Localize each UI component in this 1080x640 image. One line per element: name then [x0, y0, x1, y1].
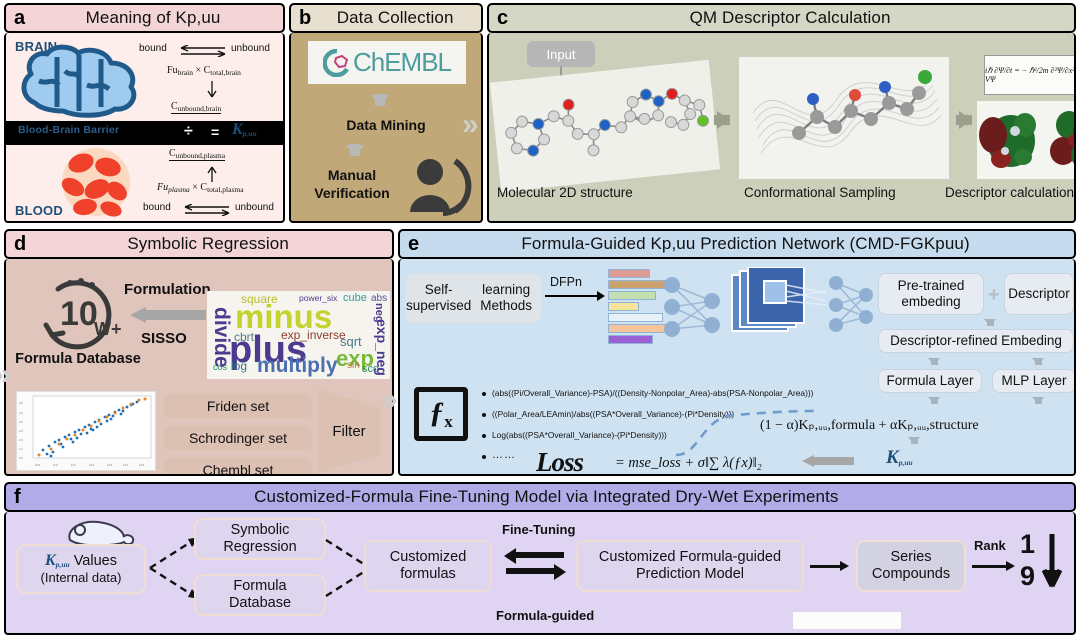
- panel-d: d Symbolic Regression 10 W+ Formula Data…: [4, 229, 394, 478]
- panel-a-body: BRAIN bound unbound Fubrain × Ctotal,bra…: [4, 33, 285, 223]
- panel-c-letter: c: [495, 8, 512, 28]
- panel-d-header: d Symbolic Regression: [4, 229, 394, 259]
- svg-text:12.0: 12.0: [89, 463, 95, 467]
- molecular-2d-structure-image: [490, 60, 720, 192]
- customized-formulas-box: Customized formulas: [364, 540, 492, 592]
- formula-item-3: Log(abs((PSA*Overall_Variance)-(Pi*Densi…: [492, 430, 667, 440]
- scatter-plot-svg: 0.51.01.5 2.02.53.03.5 10.511.011.5 12.0…: [17, 392, 157, 472]
- plus-symbol: +: [988, 284, 1000, 307]
- svg-text:11.0: 11.0: [53, 463, 58, 467]
- panel-e-header: e Formula-Guided Kp,uu Prediction Networ…: [398, 229, 1076, 259]
- circular-arrow-icon: 10 W+: [36, 277, 132, 351]
- svg-text:2.0: 2.0: [19, 429, 23, 433]
- conformational-sampling-image: [739, 57, 949, 179]
- arrow-2d-to-conformers-icon: [717, 111, 730, 129]
- formula-function-box: ƒfxx: [414, 387, 468, 441]
- svg-text:2.5: 2.5: [19, 420, 23, 424]
- dataset-friden[interactable]: Friden set: [164, 393, 312, 419]
- panel-c-header: c QM Descriptor Calculation: [487, 3, 1076, 33]
- up-arrow-blood: [207, 166, 217, 182]
- down-arrow-to-formula-layer-icon: [928, 358, 940, 365]
- wc-multiply: multiply: [257, 355, 338, 376]
- panel-a-header: a Meaning of Kp,uu: [4, 3, 285, 33]
- fine-tuning-label: Fine-Tuning: [502, 522, 575, 537]
- equilibrium-arrows-brain: [179, 45, 227, 57]
- fingerprint-bar-1: [608, 269, 650, 278]
- dataset-schrodinger[interactable]: Schrodinger set: [164, 425, 312, 451]
- svg-text:13.0: 13.0: [123, 463, 129, 467]
- neural-network-icon: [656, 267, 726, 351]
- loss-equation: = mse_loss + σ‖∑ λ(ƒx)‖₂: [615, 455, 762, 472]
- bullet-4: [482, 455, 486, 459]
- schrodinger-equation-box: iℏ ∂Ψ/∂t = − ℏ²/2m ∂²Ψ/∂x² + VΨ: [984, 55, 1076, 95]
- down-arrow-rank-icon: [1042, 532, 1068, 594]
- dashed-curve-icon: [672, 407, 822, 457]
- svg-text:0.5: 0.5: [19, 456, 23, 460]
- panel-e: e Formula-Guided Kp,uu Prediction Networ…: [398, 229, 1076, 478]
- molecular-orbital-icon: [977, 101, 1076, 179]
- down-arrow-to-refined-icon: [984, 319, 996, 326]
- brain-equation-numerator-source: Fubrain × Ctotal,brain: [167, 65, 241, 77]
- panel-a-letter: a: [12, 8, 29, 28]
- merge-line1: Customized: [390, 549, 467, 565]
- panel-e-body: Self-supervised learning Methods DFPn: [398, 259, 1076, 476]
- panel-c-body: Input: [487, 33, 1076, 223]
- brain-bound-label: bound: [139, 43, 167, 54]
- branch1-line1: Symbolic: [231, 522, 290, 538]
- panel-a-title: Meaning of Kp,uu: [29, 8, 277, 28]
- down-arrow-2: [346, 145, 364, 156]
- wc-sin: sin: [347, 361, 360, 371]
- merge-line2: formulas: [400, 566, 456, 582]
- chembl-logo-plate: ChEMBL: [308, 41, 466, 84]
- brain-unbound-concentration: Cunbound,brain: [171, 101, 221, 113]
- symbolic-regression-box: Symbolic Regression: [194, 518, 326, 560]
- panel-d-letter: d: [12, 234, 30, 254]
- dfpn-label: DFPn: [550, 275, 582, 289]
- input-pill: Input: [527, 41, 595, 67]
- svg-text:1.0: 1.0: [19, 447, 23, 451]
- blood-illustration-block: BLOOD Cunbound,plasma Fuplasma × Ctotal,…: [11, 146, 281, 220]
- formula-item-1: (abs((Pi/Overall_Variance)-PSA)/((Densit…: [492, 388, 813, 398]
- ssl-line2: learning Methods: [471, 282, 541, 314]
- wc-log: log: [231, 360, 247, 372]
- caption-conformational-sampling: Conformational Sampling: [744, 185, 896, 200]
- panel-c: c QM Descriptor Calculation Input: [487, 3, 1076, 225]
- molecule-skeleton-icon: [490, 60, 720, 192]
- formula-database-box: Formula Database: [194, 574, 326, 616]
- descriptor-refined-embedding-box: Descriptor-refined Embeding: [878, 329, 1074, 353]
- panel-f-title: Customized-Formula Fine-Tuning Model via…: [25, 487, 1068, 507]
- blood-brain-barrier-label: Blood-Brain Barrier: [18, 124, 119, 136]
- down-arrow-brain: [207, 81, 217, 99]
- pretrained-line1: Pre-trained: [898, 278, 965, 293]
- formulation-label: Formulation: [124, 281, 211, 298]
- kpuu-input-symbol: Kp,uu: [45, 552, 70, 569]
- neural-network-icon-2: [824, 273, 876, 335]
- panel-d-body: 10 W+ Formula Database Formulation SISSO…: [4, 259, 394, 476]
- sisso-label: SISSO: [141, 330, 187, 347]
- caption-molecular-2d: Molecular 2D structure: [497, 185, 633, 200]
- panel-e-letter: e: [406, 234, 423, 254]
- panel-f-letter: f: [12, 487, 25, 507]
- svg-text:3.0: 3.0: [19, 411, 23, 415]
- fingerprint-bar-5: [608, 313, 663, 322]
- panel-b-title: Data Collection: [315, 8, 475, 28]
- red-blood-cells-icon: [53, 147, 139, 217]
- kpuu-values-text: Values: [70, 553, 117, 569]
- wc-cos: cos: [213, 363, 227, 372]
- kpuu-symbol: Kp,uu: [232, 121, 257, 139]
- brain-unbound-label: unbound: [231, 43, 270, 54]
- operator-word-cloud: square power_six cube abs minus divide c…: [207, 291, 390, 379]
- down-arrow-formula-out-icon: [928, 397, 940, 404]
- arrow-series-to-rank-icon: [972, 565, 1012, 568]
- self-supervised-box: Self-supervised learning Methods: [406, 273, 541, 323]
- branch1-line2: Regression: [223, 539, 296, 555]
- panel-d-title: Symbolic Regression: [30, 234, 386, 254]
- down-arrow-1: [371, 95, 389, 106]
- svg-text:11.5: 11.5: [71, 463, 76, 467]
- brain-illustration-block: BRAIN bound unbound Fubrain × Ctotal,bra…: [11, 37, 281, 121]
- divide-symbol: ÷: [184, 123, 193, 141]
- caption-descriptor-calculation: Descriptor calculation: [945, 185, 1074, 200]
- formula-database-label: Formula Database: [8, 351, 148, 367]
- brain-icon: [17, 41, 157, 119]
- panel-a: a Meaning of Kp,uu BRAIN bound: [4, 3, 285, 225]
- feature-map-stack-icon: [730, 267, 826, 351]
- figure-canvas: a Meaning of Kp,uu BRAIN bound: [0, 0, 1080, 640]
- loss-word: Loss: [536, 447, 583, 476]
- svg-text:12.5: 12.5: [107, 463, 113, 467]
- chevron-d-to-e-icon: »: [381, 385, 398, 415]
- bidirectional-arrows-icon: [502, 546, 568, 582]
- kpuu-values-box: Kp,uu Values (Internal data): [16, 544, 146, 594]
- svg-text:10.5: 10.5: [35, 463, 41, 467]
- panel-b-body: ChEMBL Data Mining Manual Verification: [289, 33, 483, 223]
- svg-text:13.5: 13.5: [139, 463, 145, 467]
- wc-cube: cube: [343, 293, 367, 304]
- filter-wedge: Filter: [318, 389, 380, 473]
- blood-bound-label: bound: [143, 202, 171, 213]
- series-line2: Compounds: [872, 566, 950, 582]
- fingerprint-bar-7: [608, 335, 653, 344]
- chevron-b-to-c-icon: »: [462, 110, 479, 140]
- fingerprint-bar-3: [608, 291, 656, 300]
- panel-b-header: b Data Collection: [289, 3, 483, 33]
- panel-b: b Data Collection ChEMBL Data Mining Man…: [289, 3, 483, 225]
- internal-data-text: (Internal data): [41, 570, 122, 585]
- bullet-1: [482, 392, 486, 396]
- panel-b-letter: b: [297, 8, 315, 28]
- rank-bottom-number: 9: [1020, 564, 1035, 590]
- pretrained-embedding-box: Pre-trained embeding: [878, 273, 984, 315]
- white-strip-decoration: [793, 612, 901, 629]
- mlp-layer-box: MLP Layer: [992, 369, 1076, 393]
- formula-item-4: ……: [492, 449, 516, 461]
- panel-f-header: f Customized-Formula Fine-Tuning Model v…: [4, 482, 1076, 512]
- conformer-ensemble-icon: [739, 57, 949, 179]
- branch2-line2: Database: [229, 595, 291, 611]
- panel-f-body: Kp,uu Values (Internal data) Symbolic Re…: [4, 512, 1076, 635]
- prediction-model-box: Customized Formula-guided Prediction Mod…: [576, 540, 804, 592]
- db-unit-text: W+: [94, 319, 122, 339]
- dataset-chembl[interactable]: Chembl set: [164, 457, 312, 476]
- arrow-ssl-to-fingerprint-icon: [545, 295, 603, 297]
- orbital-visualization-image: [977, 101, 1076, 179]
- down-arrow-mlp-out-icon: [1032, 397, 1044, 404]
- fingerprint-bar-4: [608, 302, 639, 311]
- equals-symbol: =: [211, 124, 219, 140]
- chembl-logo-text: ChEMBL: [353, 47, 451, 78]
- rank-label: Rank: [974, 538, 1006, 553]
- left-arrow-formulation-icon: [128, 307, 206, 323]
- svg-text:1.5: 1.5: [19, 438, 23, 442]
- series-compounds-box: Series Compounds: [856, 540, 966, 592]
- model-line2: Prediction Model: [636, 566, 744, 582]
- panel-e-title: Formula-Guided Kp,uu Prediction Network …: [423, 234, 1068, 254]
- series-line1: Series: [890, 549, 931, 565]
- bullet-2: [482, 413, 486, 417]
- down-arrow-to-mlp-layer-icon: [1032, 358, 1044, 365]
- formula-guided-label: Formula-guided: [496, 608, 594, 623]
- svg-text:3.5: 3.5: [19, 401, 23, 405]
- bullet-3: [482, 434, 486, 438]
- branch2-line1: Formula: [233, 578, 286, 594]
- regression-scatter-plot: 0.51.01.5 2.02.53.03.5 10.511.011.5 12.0…: [16, 391, 156, 471]
- chevron-a-to-b-icon: »: [0, 360, 11, 390]
- down-arrow-to-kpuu-icon: [908, 437, 920, 444]
- fx-glyph: ƒfxx: [429, 396, 453, 432]
- formula-database-counter: 10 W+: [36, 277, 132, 351]
- db-count-text: 10: [60, 295, 98, 333]
- equilibrium-arrows-blood: [183, 204, 231, 216]
- formula-layer-box: Formula Layer: [878, 369, 982, 393]
- plasma-unbound-concentration: Cunbound,plasma: [169, 148, 225, 160]
- arrow-conformers-to-descriptor-icon: [959, 111, 972, 129]
- descriptor-box: Descriptor: [1004, 273, 1074, 315]
- data-mining-label: Data Mining: [291, 117, 481, 133]
- panel-f: f Customized-Formula Fine-Tuning Model v…: [4, 482, 1076, 637]
- chembl-logo-icon: [323, 49, 351, 77]
- arrow-model-to-series-icon: [810, 565, 846, 568]
- panel-c-title: QM Descriptor Calculation: [512, 8, 1068, 28]
- user-icon: [403, 155, 479, 217]
- kpuu-output-label: Kp,uu: [886, 447, 913, 469]
- pretrained-line2: embeding: [901, 294, 960, 309]
- wc-exp-neg: exp_neg: [375, 319, 389, 376]
- plasma-equation-source: Fuplasma × Ctotal,plasma: [157, 182, 244, 194]
- ssl-line1: Self-supervised: [406, 282, 471, 314]
- rank-top-number: 1: [1020, 532, 1035, 558]
- schrodinger-equation-text: iℏ ∂Ψ/∂t = − ℏ²/2m ∂²Ψ/∂x² + VΨ: [985, 66, 1076, 84]
- model-line1: Customized Formula-guided: [599, 549, 781, 565]
- blood-unbound-label: unbound: [235, 202, 274, 213]
